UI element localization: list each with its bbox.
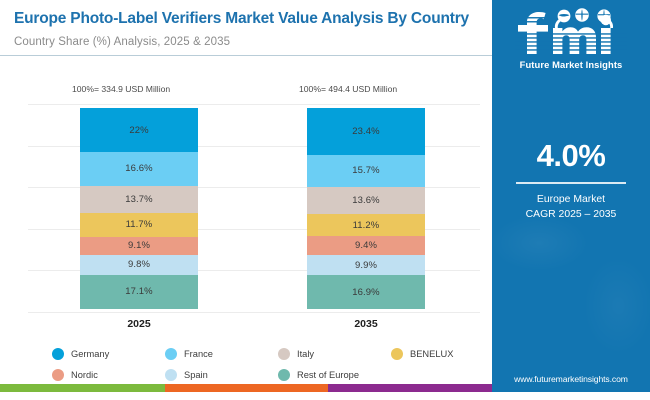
cagr-block: 4.0% Europe Market CAGR 2025 – 2035 — [492, 138, 650, 222]
legend-label: Spain — [184, 370, 208, 380]
cagr-caption: Europe Market CAGR 2025 – 2035 — [492, 192, 650, 222]
legend-label: France — [184, 349, 213, 359]
legend-color-swatch — [165, 348, 177, 360]
bar-segment-label: 9.4% — [355, 240, 377, 251]
total-label-2035: 100%= 494.4 USD Million — [299, 84, 397, 94]
legend-label: Germany — [71, 349, 109, 359]
legend-label: Nordic — [71, 370, 98, 380]
total-label-2025: 100%= 334.9 USD Million — [72, 84, 170, 94]
category-label-2025: 2025 — [80, 318, 198, 330]
bar-segment-label: 11.2% — [353, 220, 380, 231]
axis-category-labels: 2025 2035 — [0, 318, 492, 334]
gridline — [28, 104, 480, 105]
legend-color-swatch — [278, 369, 290, 381]
chart-panel: Europe Photo-Label Verifiers Market Valu… — [0, 0, 492, 392]
cagr-value: 4.0% — [492, 138, 650, 174]
bar-segment-label: 13.6% — [352, 195, 379, 206]
brand-logo-block: Future Market Insights — [492, 8, 650, 70]
legend-color-swatch — [165, 369, 177, 381]
fmi-logo-icon — [515, 8, 627, 58]
strip-segment-green — [0, 384, 165, 392]
legend-item[interactable]: Nordic — [52, 369, 98, 381]
bar-segment-label: 23.4% — [352, 126, 379, 137]
gridline — [28, 312, 480, 313]
page-title: Europe Photo-Label Verifiers Market Valu… — [14, 10, 478, 29]
legend-item[interactable]: BENELUX — [391, 348, 453, 360]
bar-segment: 9.8% — [80, 255, 198, 275]
bar-segment-label: 9.9% — [355, 260, 377, 271]
bar-segment-label: 16.6% — [125, 163, 152, 174]
stacked-bar-2025: 22%16.6%13.7%11.7%9.1%9.8%17.1% — [80, 108, 198, 309]
chart-subtitle: Country Share (%) Analysis, 2025 & 2035 — [14, 36, 478, 48]
category-label-2035: 2035 — [307, 318, 425, 330]
bar-segment: 11.2% — [307, 214, 425, 236]
legend-color-swatch — [52, 348, 64, 360]
stacked-bar-2035: 23.4%15.7%13.6%11.2%9.4%9.9%16.9% — [307, 108, 425, 309]
bar-segment-label: 17.1% — [125, 286, 152, 297]
bar-segment: 11.7% — [80, 213, 198, 237]
bar-segment-label: 9.8% — [128, 259, 150, 270]
strip-segment-purple — [328, 384, 492, 392]
cagr-caption-line1: Europe Market — [492, 192, 650, 207]
legend-color-swatch — [52, 369, 64, 381]
legend-label: BENELUX — [410, 349, 453, 359]
bar-segment: 15.7% — [307, 155, 425, 187]
website-url[interactable]: www.futuremarketinsights.com — [492, 374, 650, 384]
legend-item[interactable]: Rest of Europe — [278, 369, 359, 381]
bar-segment: 9.4% — [307, 236, 425, 255]
bar-segment: 16.9% — [307, 275, 425, 309]
cagr-caption-line2: CAGR 2025 – 2035 — [492, 207, 650, 222]
plot-area: 22%16.6%13.7%11.7%9.1%9.8%17.1% 23.4%15.… — [28, 104, 480, 312]
legend-item[interactable]: Italy — [278, 348, 314, 360]
bar-segment-label: 9.1% — [128, 240, 150, 251]
strip-segment-orange — [165, 384, 328, 392]
bar-segment: 13.7% — [80, 186, 198, 214]
bar-segment: 17.1% — [80, 275, 198, 309]
chart-legend: GermanyFranceItalyBENELUXNordicSpainRest… — [52, 348, 482, 388]
bar-segment: 13.6% — [307, 187, 425, 214]
bar-segment: 9.9% — [307, 255, 425, 275]
cagr-divider — [516, 182, 626, 184]
bottom-color-strip — [0, 384, 492, 392]
bar-segment: 22% — [80, 108, 198, 152]
bar-segment-label: 11.7% — [126, 219, 153, 230]
legend-label: Rest of Europe — [297, 370, 359, 380]
legend-label: Italy — [297, 349, 314, 359]
legend-item[interactable]: Spain — [165, 369, 208, 381]
legend-item[interactable]: France — [165, 348, 213, 360]
brand-panel: Future Market Insights 4.0% Europe Marke… — [492, 0, 650, 392]
bar-segment: 16.6% — [80, 152, 198, 185]
legend-color-swatch — [391, 348, 403, 360]
legend-item[interactable]: Germany — [52, 348, 109, 360]
bar-segment-label: 16.9% — [352, 287, 379, 298]
chart-header: Europe Photo-Label Verifiers Market Valu… — [0, 0, 492, 56]
bar-segment-label: 15.7% — [352, 165, 379, 176]
bar-segment-label: 22% — [129, 125, 148, 136]
bar-segment: 23.4% — [307, 108, 425, 155]
header-divider — [0, 55, 492, 57]
brand-tagline: Future Market Insights — [520, 59, 623, 70]
bar-segment-label: 13.7% — [125, 194, 152, 205]
legend-color-swatch — [278, 348, 290, 360]
totals-row: 100%= 334.9 USD Million 100%= 494.4 USD … — [0, 84, 492, 98]
bar-segment: 9.1% — [80, 237, 198, 255]
